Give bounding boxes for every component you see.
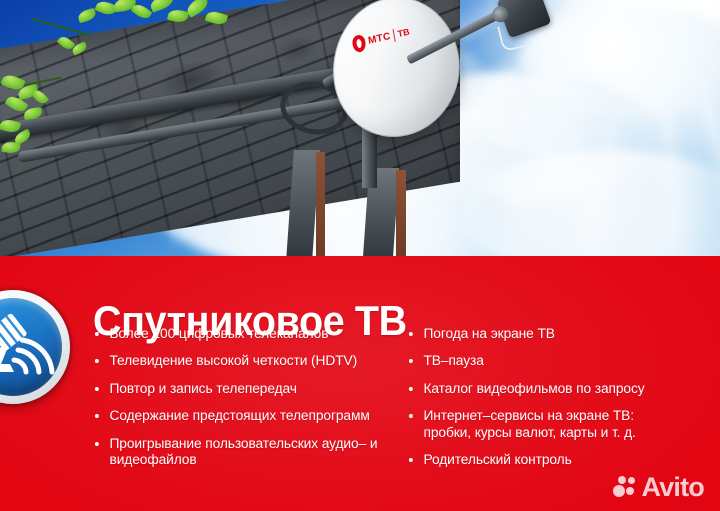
list-item: Проигрывание пользовательских аудио– и в… [93,436,380,469]
list-item: Родительский контроль [407,452,684,468]
mts-brand-text: МТС [367,31,391,46]
list-item: Более 200 цифровых телеканалов [93,326,380,342]
list-item: Повтор и запись телепередач [93,381,380,397]
list-item: Телевидение высокой четкости (HDTV) [93,353,380,369]
feature-list-right: Погода на экране ТВ ТВ–пауза Каталог вид… [407,326,693,469]
advertisement-banner: МТС ТВ [0,0,720,511]
feature-list-left: Более 200 цифровых телеканалов Телевиден… [93,326,389,469]
list-item: ТВ–пауза [407,353,684,369]
badge-core [0,298,62,396]
hero-photo: МТС ТВ [0,0,720,256]
mts-egg-icon [351,34,367,54]
list-item: Интернет–сервисы на экране ТВ: пробки, к… [407,408,684,441]
satellite-badge [0,290,70,404]
dish-reflector [322,0,470,151]
logo-divider [392,29,396,42]
list-item: Погода на экране ТВ [407,326,684,342]
mts-service-text: ТВ [397,28,410,40]
satellite-dish-assembly: МТС ТВ [316,0,576,174]
feature-columns: Более 200 цифровых телеканалов Телевиден… [93,326,693,480]
dish-rim [322,0,470,151]
avito-watermark: Avito [613,474,705,501]
feature-column-right: Погода на экране ТВ ТВ–пауза Каталог вид… [407,326,693,480]
avito-wordmark: Avito [642,474,705,501]
red-info-panel: Спутниковое ТВ Более 200 цифровых телека… [0,256,720,511]
feature-column-left: Более 200 цифровых телеканалов Телевиден… [93,326,389,480]
list-item: Содержание предстоящих телепрограмм [93,408,380,424]
roof-gable-brick [396,170,406,256]
avito-dots-logo-icon [613,475,637,501]
list-item: Каталог видеофильмов по запросу [407,381,684,397]
satellite-dish-signal-icon [0,298,62,396]
